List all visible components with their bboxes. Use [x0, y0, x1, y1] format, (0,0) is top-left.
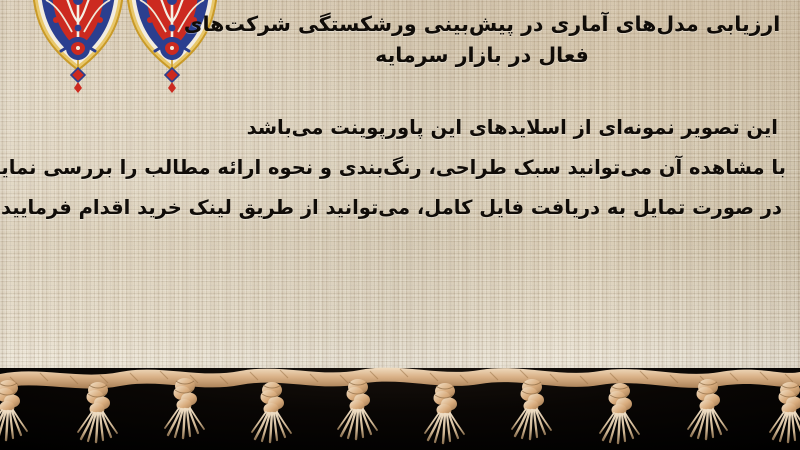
tassel	[338, 379, 377, 439]
slide-title-line-1: ارزیابی مدل‌های آماری در پیش‌بینی ورشکست…	[182, 9, 782, 40]
fringe-rope-band	[0, 368, 800, 389]
tassel	[600, 383, 639, 443]
tassel	[512, 379, 551, 439]
presentation-slide: ارزیابی مدل‌های آماری در پیش‌بینی ورشکست…	[0, 0, 800, 450]
body-line-3: در صورت تمایل به دریافت فایل کامل، می‌تو…	[16, 188, 786, 228]
tassel	[770, 382, 800, 442]
slide-body-text: این تصویر نمونه‌ای از اسلایدهای این پاور…	[16, 108, 786, 228]
slide-title-line-2: فعال در بازار سرمایه	[182, 40, 782, 71]
tassel	[78, 382, 117, 442]
carpet-fringe-tassels-icon	[0, 352, 800, 450]
body-line-1: این تصویر نمونه‌ای از اسلایدهای این پاور…	[16, 108, 786, 148]
slide-title: ارزیابی مدل‌های آماری در پیش‌بینی ورشکست…	[182, 9, 782, 71]
tassel	[165, 378, 204, 438]
tassel	[252, 382, 291, 442]
tassel	[688, 379, 727, 439]
body-line-2: با مشاهده آن می‌توانید سبک طراحی، رنگ‌بن…	[16, 148, 786, 188]
tassel	[425, 383, 464, 443]
tassel	[0, 380, 27, 440]
